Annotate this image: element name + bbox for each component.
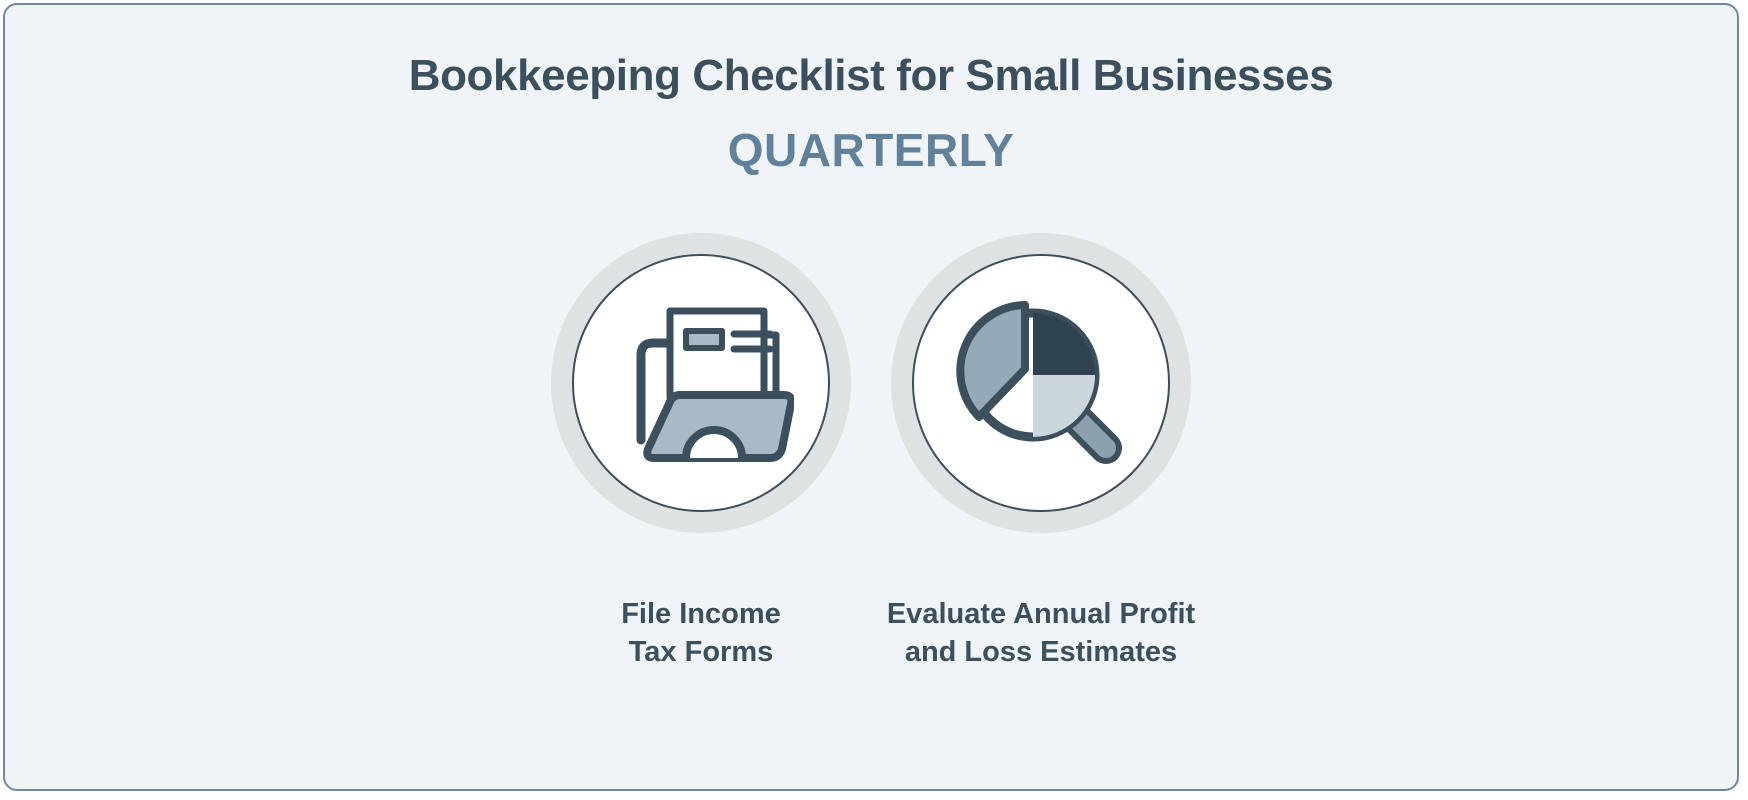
checklist-item-label: Evaluate Annual Profit and Loss Estimate… (887, 595, 1195, 672)
page-title: Bookkeeping Checklist for Small Business… (5, 5, 1737, 102)
pie-chart-magnifier-icon (951, 293, 1131, 473)
checklist-item-file-income-tax-forms: File Income Tax Forms (531, 233, 871, 672)
header: Bookkeeping Checklist for Small Business… (5, 5, 1737, 176)
file-folder-documents-icon (608, 299, 794, 467)
checklist-items: File Income Tax Forms (5, 233, 1737, 672)
checklist-item-label: File Income Tax Forms (621, 595, 781, 672)
icon-circle (912, 254, 1170, 512)
icon-badge (551, 233, 851, 533)
checklist-item-evaluate-profit-loss: Evaluate Annual Profit and Loss Estimate… (871, 233, 1211, 672)
page-subtitle: QUARTERLY (5, 102, 1737, 177)
infographic-card: Bookkeeping Checklist for Small Business… (3, 3, 1739, 791)
icon-circle (572, 254, 830, 512)
icon-badge (891, 233, 1191, 533)
